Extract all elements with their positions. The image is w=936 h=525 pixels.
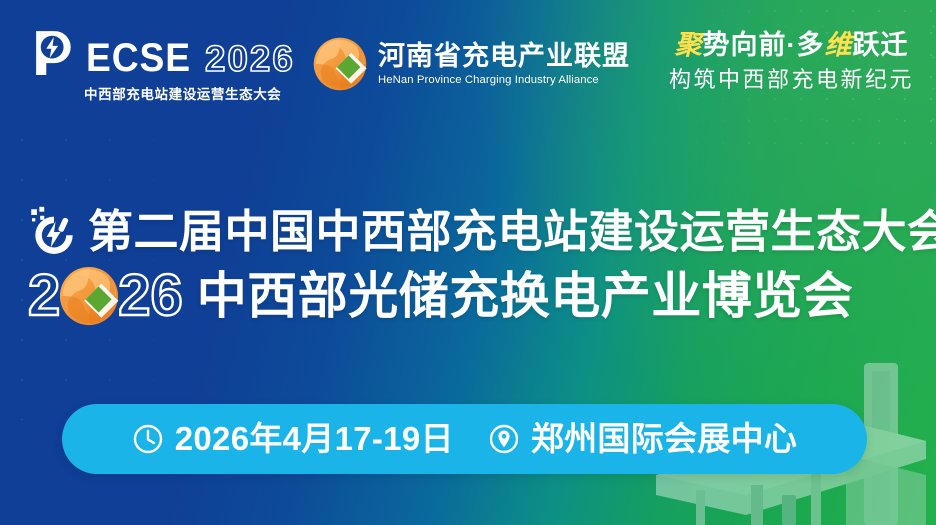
alliance-logo: 河南省充电产业联盟 HeNan Province Charging Indust… [312,36,630,92]
year-digit-4: 6 [151,267,183,325]
main-title-line-1: 第二届中国中西部充电站建设运营生态大会 [88,205,936,259]
event-venue: 郑州国际会展中心 [531,421,797,457]
event-info-bar: 2026年4月17-19日 郑州国际会展中心 [62,404,867,474]
title-line-2: 2 2 6 中西部光储充换 [28,265,918,327]
event-venue-item: 郑州国际会展中心 [488,421,797,457]
alliance-name-en: HeNan Province Charging Industry Allianc… [378,73,630,87]
ecse-wordmark: ECSE [86,38,191,78]
slogan-text-b: 跃迁 [852,30,908,60]
year-digit-1: 2 [28,267,60,325]
ecse-logo: ECSE 2026 中西部充电站建设运营生态大会 [26,26,306,104]
charging-plug-logo-icon [26,26,80,80]
event-date-item: 2026年4月17-19日 [132,421,454,457]
pinwheel-diamond-logo-icon [312,36,368,92]
ecse-year: 2026 [205,40,295,78]
ecse-logo-row: ECSE 2026 [26,26,306,78]
clock-icon [132,423,164,455]
charging-bolt-circle-icon [28,206,80,258]
slogan-text-a: 势向前·多 [702,30,824,60]
header-slogan: 聚势向前·多维跃迁 构筑中西部充电新纪元 [669,28,914,95]
location-pin-icon [488,423,520,455]
year-2026-logo: 2 2 6 [28,265,183,327]
alliance-text-block: 河南省充电产业联盟 HeNan Province Charging Indust… [378,41,630,87]
event-date: 2026年4月17-19日 [175,421,454,457]
year-digit-3: 2 [118,267,150,325]
slogan-highlight-wei: 维 [824,30,852,60]
banner-header: ECSE 2026 中西部充电站建设运营生态大会 [0,0,936,125]
pinwheel-diamond-logo-icon [58,265,120,327]
event-banner: ECSE 2026 中西部充电站建设运营生态大会 [0,0,936,525]
alliance-name-cn: 河南省充电产业联盟 [378,41,630,71]
slogan-line-2: 构筑中西部充电新纪元 [669,65,914,95]
title-line-1: 第二届中国中西部充电站建设运营生态大会 [28,205,918,259]
slogan-highlight-ju: 聚 [674,30,702,60]
main-title-block: 第二届中国中西部充电站建设运营生态大会 2 [28,205,918,327]
ecse-subtitle: 中西部充电站建设运营生态大会 [84,83,306,103]
slogan-line-1: 聚势向前·多维跃迁 [669,28,914,62]
main-title-line-2: 中西部光储充换电产业博览会 [197,266,854,326]
